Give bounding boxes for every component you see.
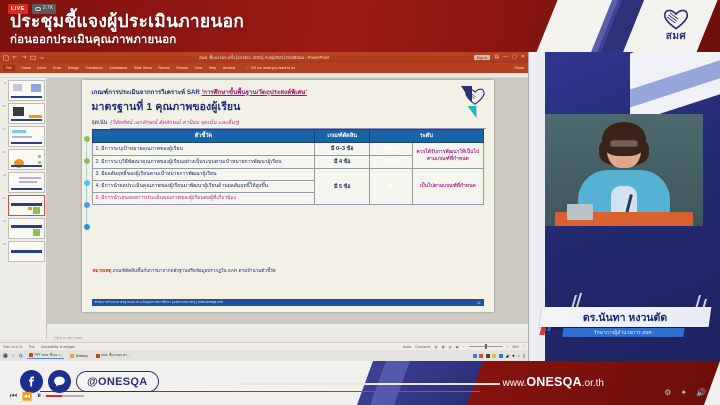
ribbon-tab-design[interactable]: Design bbox=[68, 66, 79, 70]
thumbnail-preview[interactable] bbox=[8, 103, 45, 124]
table-row: 1. มีการระบุเป้าหมายคุณภาพของผู้เรียน มี… bbox=[92, 143, 483, 156]
thumbnail-preview[interactable] bbox=[8, 126, 45, 147]
playback-progress-bar[interactable] bbox=[46, 395, 84, 397]
presenter-title-bar: รักษาการผู้อำนวยการ สมศ. bbox=[562, 328, 684, 337]
volume-icon[interactable]: 🔊 bbox=[696, 388, 706, 397]
broadcast-header: LIVE 2.7K ประชุมชี้แจงผู้ประเมินภายนอก ก… bbox=[0, 0, 720, 52]
quick-access-toolbar[interactable] bbox=[3, 55, 45, 61]
livestream-screen: LIVE 2.7K ประชุมชี้แจงผู้ประเมินภายนอก ก… bbox=[0, 0, 720, 405]
thumbnail-number: 10 bbox=[1, 103, 6, 108]
tray-icon-cloud[interactable] bbox=[499, 354, 503, 358]
ribbon-tab-acrobat[interactable]: Acrobat bbox=[223, 66, 235, 70]
playback-progress-fill bbox=[46, 395, 62, 397]
indicator-bullet-rail bbox=[84, 136, 91, 246]
status-comments-button[interactable]: Comments bbox=[415, 345, 430, 349]
zoom-in-button[interactable]: + bbox=[507, 345, 509, 349]
table-row: 3. มีผลสัมฤทธิ์ของผู้เรียนตามเป้าหมายการ… bbox=[92, 169, 483, 181]
zoom-out-button[interactable]: − bbox=[463, 345, 465, 349]
fit-slide-icon[interactable]: ⛶ bbox=[523, 345, 525, 349]
pause-icon[interactable]: ⏸ bbox=[37, 391, 41, 401]
close-button[interactable]: ✕ bbox=[521, 55, 525, 60]
system-tray: ◢ ◄ ▭ ▯ bbox=[473, 353, 525, 358]
criteria-table: ตัวชี้วัด เกณฑ์ตัดสิน ระดับ 1. มีการระบุ… bbox=[92, 129, 484, 205]
notes-placeholder: Click to add notes bbox=[54, 336, 83, 340]
thumbnail-preview[interactable] bbox=[8, 80, 45, 101]
slide-page-number: 14 bbox=[477, 301, 481, 305]
level-improve: ปรับปรุง bbox=[370, 143, 413, 156]
thumbnail-number: 9 bbox=[1, 80, 6, 85]
tray-volume-icon[interactable]: ◄ bbox=[511, 353, 515, 358]
maximize-button[interactable]: ▢ bbox=[512, 55, 517, 60]
powerpoint-workspace: 9 10 11 bbox=[0, 78, 528, 339]
laptop-icon bbox=[567, 204, 593, 220]
column-header-indicator: ตัวชี้วัด bbox=[92, 130, 315, 143]
rail-dot-3 bbox=[84, 180, 90, 186]
url-suffix: .or.th bbox=[582, 378, 604, 389]
slide-remark-text: เกณฑ์ตัดสินขึ้นกับการมาจากหลักฐานหรือข้อ… bbox=[113, 268, 276, 273]
view-sorter-icon[interactable]: ▦ bbox=[442, 345, 445, 349]
tell-me-placeholder: Tell me what you want to do bbox=[251, 66, 295, 70]
presenter-name: ดร.นันทา หงวนตัด bbox=[583, 309, 667, 326]
present-icon[interactable] bbox=[30, 55, 36, 61]
windows-taskbar: ▦ ○ ◍ PPT สมศ. ชี้แจง ร... Desktop สมศ. … bbox=[0, 350, 528, 361]
note-meets-criteria: เป็นไปตามเกณฑ์ที่กำหนด bbox=[413, 169, 483, 205]
ribbon-tab-animations[interactable]: Animations bbox=[109, 66, 127, 70]
save-icon[interactable] bbox=[3, 55, 9, 61]
table-header-row: ตัวชี้วัด เกณฑ์ตัดสิน ระดับ bbox=[92, 130, 483, 143]
social-handle-pill[interactable]: @ONESQA bbox=[76, 371, 159, 392]
level-fair: พอใช้ bbox=[370, 156, 413, 169]
taskbar-label: PPT สมศ. ชี้แจง ร... bbox=[35, 353, 63, 358]
current-slide: เกณฑ์การประเมินจากการวิเคราะห์ SAR 'การศ… bbox=[82, 80, 494, 312]
presenter-glasses bbox=[610, 140, 638, 147]
criteria-1: มี 0–3 ข้อ bbox=[315, 143, 370, 156]
thumbnail-number: 13 bbox=[1, 172, 6, 177]
thumbnail-item[interactable]: 11 bbox=[1, 126, 45, 147]
thumbnail-preview[interactable] bbox=[8, 241, 45, 262]
show-desktop-icon[interactable]: ▯ bbox=[523, 353, 525, 358]
criteria-2: มี 4 ข้อ bbox=[315, 156, 370, 169]
thumbnail-preview-current[interactable] bbox=[8, 195, 45, 216]
thumbnail-item[interactable]: 9 bbox=[1, 80, 45, 101]
ribbon-tab-view[interactable]: View bbox=[195, 66, 203, 70]
ribbon-tab-slide-show[interactable]: Slide Show bbox=[134, 66, 152, 70]
onesqa-logo-text: สมศ bbox=[666, 29, 687, 44]
heart-icon bbox=[661, 8, 691, 30]
criteria-3: มี 5 ข้อ bbox=[315, 169, 370, 205]
taskbar-item-desktop[interactable]: Desktop bbox=[68, 354, 89, 358]
sign-in-button[interactable]: Sign in bbox=[474, 55, 491, 60]
tray-icon-shield[interactable] bbox=[492, 354, 496, 358]
thumbnail-number: 12 bbox=[1, 149, 6, 154]
indicator-2: 2. มีการระบุวิธีพัฒนาคุณภาพของผู้เรียนอย… bbox=[92, 156, 315, 169]
indicator-5: 5. มีการนำเสนอผลการประเมินคุณภาพของผู้เร… bbox=[92, 193, 315, 205]
ribbon-tab-draw[interactable]: Draw bbox=[53, 66, 61, 70]
presenter-hair bbox=[602, 122, 646, 156]
rail-dot-2 bbox=[84, 158, 90, 164]
minimize-button[interactable]: — bbox=[503, 55, 508, 60]
view-reading-icon[interactable]: ▥ bbox=[449, 345, 452, 349]
broadcast-title-line1: ประชุมชี้แจงผู้ประเมินภายนอก bbox=[10, 12, 244, 30]
view-normal-icon[interactable]: ▤ bbox=[435, 345, 438, 349]
notes-pane[interactable]: Click to add notes bbox=[47, 323, 528, 339]
tell-me-search[interactable]: ◌ Tell me what you want to do bbox=[247, 66, 296, 70]
tray-icon-app[interactable] bbox=[486, 354, 490, 358]
thumbnail-preview[interactable] bbox=[8, 149, 45, 170]
taskbar-label: Desktop bbox=[76, 354, 88, 358]
tray-icon-notepad[interactable] bbox=[473, 354, 477, 358]
slide-kicker: เกณฑ์การประเมินจากการวิเคราะห์ SAR 'การศ… bbox=[92, 87, 486, 97]
settings-gear-icon[interactable]: ⚙ bbox=[664, 388, 671, 397]
status-accessibility[interactable]: Accessibility: investigate bbox=[41, 345, 75, 349]
presenter-subtitle: รักษาการผู้อำนวยการ สมศ. bbox=[594, 329, 653, 337]
ribbon-tab-record[interactable]: Record bbox=[158, 66, 170, 70]
slide-remark-label: หมายเหตุ bbox=[93, 268, 112, 273]
ribbon-tab-file[interactable]: File bbox=[3, 65, 15, 71]
status-right-controls: Notes Comments ▤ ▦ ▥ ▣ − + 58% ⛶ bbox=[403, 345, 525, 349]
customize-qat-chevron-icon[interactable] bbox=[39, 55, 45, 61]
thumbnail-item[interactable]: 10 bbox=[1, 103, 45, 124]
slide-focus-row: จุดเน้น (วิสัยทัศน์ เอกลักษณ์ อัตลักษณ์ … bbox=[92, 119, 486, 129]
thumbnail-number: 16 bbox=[1, 241, 6, 246]
indicator-4: 4. มีการนำผลประเมินคุณภาพของผู้เรียนมาพั… bbox=[92, 181, 315, 193]
player-controls: ⏮ ⏪ ⏸ bbox=[10, 391, 84, 401]
slide-thumbnail-pane[interactable]: 9 10 11 bbox=[0, 78, 47, 339]
broadcast-title-line2: ก่อนออกประเมินคุณภาพภายนอก bbox=[10, 31, 244, 49]
ribbon-display-options-icon[interactable]: ▤ bbox=[494, 55, 499, 60]
social-links: @ONESQA bbox=[20, 370, 159, 393]
thumbnail-item-selected[interactable]: 14 bbox=[1, 195, 45, 216]
thumbnail-preview[interactable] bbox=[8, 172, 45, 193]
url-prefix: www. bbox=[502, 378, 526, 389]
rail-dot-1 bbox=[84, 136, 90, 142]
search-icon[interactable]: ○ bbox=[12, 353, 15, 359]
tray-clock[interactable]: ▭ bbox=[517, 354, 520, 358]
ribbon-tab-transitions[interactable]: Transitions bbox=[85, 66, 102, 70]
status-language[interactable]: Thai bbox=[29, 345, 35, 349]
view-slideshow-icon[interactable]: ▣ bbox=[456, 345, 459, 349]
sparkle-icon[interactable]: ✦ bbox=[680, 388, 687, 397]
slide-remark: หมายเหตุ เกณฑ์ตัดสินขึ้นกับการมาจากหลักฐ… bbox=[93, 268, 276, 275]
browser-icon[interactable]: ◍ bbox=[19, 353, 23, 359]
document-title: สมศ. ชี้แจงรอบ ครั้ง [14 Dec. 2021] Auto… bbox=[0, 54, 528, 61]
slide-kicker-link: 'การศึกษาขั้นพื้นฐาน/วัตถุประสงค์พิเศษ' bbox=[202, 89, 307, 96]
slide-header: เกณฑ์การประเมินจากการวิเคราะห์ SAR 'การศ… bbox=[92, 87, 486, 129]
slide-focus-value: (วิสัยทัศน์ เอกลักษณ์ อัตลักษณ์ ค่านิยม … bbox=[110, 119, 485, 129]
start-button-icon[interactable]: ▦ bbox=[3, 353, 8, 359]
slide-focus-label: จุดเน้น bbox=[92, 119, 108, 127]
thumbnail-number: 15 bbox=[1, 218, 6, 223]
line-icon[interactable] bbox=[48, 370, 71, 393]
thumbnail-item[interactable]: 16 bbox=[1, 241, 45, 262]
onesqa-logo: สมศ bbox=[650, 6, 702, 46]
slide-kicker-prefix: เกณฑ์การประเมินจากการวิเคราะห์ SAR bbox=[92, 89, 202, 96]
indicator-3: 3. มีผลสัมฤทธิ์ของผู้เรียนตามเป้าหมายการ… bbox=[92, 169, 315, 181]
thumbnail-preview[interactable] bbox=[8, 218, 45, 239]
lightbulb-icon: ◌ bbox=[247, 66, 249, 70]
slide-footer: สำนักงานรับรองมาตรฐานและประเมินคุณภาพการ… bbox=[92, 299, 484, 306]
status-slide-indicator[interactable]: Slide 14 of 41 bbox=[3, 345, 23, 349]
url-brand: ONESQA bbox=[526, 375, 581, 389]
tray-network-icon[interactable]: ◢ bbox=[505, 353, 508, 358]
facebook-icon[interactable] bbox=[20, 370, 43, 393]
broadcast-title: ประชุมชี้แจงผู้ประเมินภายนอก ก่อนออกประเ… bbox=[10, 12, 244, 49]
slide-footer-text: สำนักงานรับรองมาตรฐานและประเมินคุณภาพการ… bbox=[95, 300, 224, 305]
ribbon-tab-review[interactable]: Review bbox=[176, 66, 188, 70]
zoom-level-label[interactable]: 58% bbox=[512, 345, 518, 349]
powerpoint-ribbon-tabs: File Home Insert Draw Design Transitions… bbox=[0, 63, 528, 73]
thumbnail-number: 11 bbox=[1, 126, 6, 131]
rail-dot-5 bbox=[84, 224, 90, 230]
brand-footer: @ONESQA www.ONESQA.or.th ⏮ ⏪ ⏸ ⚙ ✦ 🔊 bbox=[0, 361, 720, 405]
social-handle-text: @ONESQA bbox=[87, 376, 148, 388]
taskbar-item-document[interactable]: สมศ. ชี้แจงรอบ คร... bbox=[94, 353, 132, 358]
zoom-slider-handle[interactable] bbox=[485, 344, 487, 349]
presenter-nameplate: ดร.นันทา หงวนตัด bbox=[540, 307, 712, 327]
thumbnail-item[interactable]: 13 bbox=[1, 172, 45, 193]
note-needs-development: ควรได้รับการพัฒนาให้เป็นไปตามเกณฑ์ที่กำห… bbox=[413, 143, 483, 169]
thumbnail-number: 14 bbox=[1, 195, 6, 200]
indicator-1: 1. มีการระบุเป้าหมายคุณภาพของผู้เรียน bbox=[92, 143, 315, 156]
ribbon-tab-insert[interactable]: Insert bbox=[37, 66, 46, 70]
previous-icon[interactable]: ⏮ bbox=[10, 391, 17, 401]
thumbnail-item[interactable]: 12 bbox=[1, 149, 45, 170]
taskbar-item-powerpoint[interactable]: PPT สมศ. ชี้แจง ร... bbox=[27, 353, 64, 359]
zoom-slider[interactable] bbox=[469, 346, 503, 347]
undo-icon[interactable] bbox=[12, 55, 18, 61]
slide-canvas-area: เกณฑ์การประเมินจากการวิเคราะห์ SAR 'การศ… bbox=[47, 78, 528, 339]
column-header-criteria: เกณฑ์ตัดสิน bbox=[315, 130, 370, 143]
presenter-video-feed bbox=[545, 114, 703, 226]
footer-white-line bbox=[240, 383, 500, 385]
rewind-icon[interactable]: ⏪ bbox=[22, 392, 32, 401]
powerpoint-status-bar: Slide 14 of 41 Thai Accessibility: inves… bbox=[0, 342, 528, 350]
shared-screen: สมศ. ชี้แจงรอบ ครั้ง [14 Dec. 2021] Auto… bbox=[0, 52, 529, 361]
player-right-controls: ⚙ ✦ 🔊 bbox=[664, 388, 706, 397]
folder-icon bbox=[70, 354, 74, 358]
status-notes-button[interactable]: Notes bbox=[403, 345, 411, 349]
level-good: ดี bbox=[370, 169, 413, 205]
redo-icon[interactable] bbox=[21, 55, 27, 61]
presenter-panel: ดร.นันทา หงวนตัด รักษาการผู้อำนวยการ สมศ… bbox=[529, 52, 720, 361]
website-url: www.ONESQA.or.th bbox=[502, 375, 604, 389]
document-icon bbox=[96, 354, 100, 358]
share-button[interactable]: Share bbox=[514, 66, 524, 70]
taskbar-label: สมศ. ชี้แจงรอบ คร... bbox=[101, 353, 130, 358]
ribbon-tab-home[interactable]: Home bbox=[21, 66, 31, 70]
thumbnail-item[interactable]: 15 bbox=[1, 218, 45, 239]
powerpoint-icon bbox=[29, 353, 33, 357]
slide-title: มาตรฐานที่ 1 คุณภาพของผู้เรียน bbox=[92, 98, 486, 115]
ribbon-tab-help[interactable]: Help bbox=[209, 66, 216, 70]
tray-icon-alert[interactable] bbox=[479, 354, 483, 358]
column-header-level: ระดับ bbox=[370, 130, 483, 143]
powerpoint-titlebar: สมศ. ชี้แจงรอบ ครั้ง [14 Dec. 2021] Auto… bbox=[0, 52, 528, 63]
titlebar-right-controls: Sign in ▤ — ▢ ✕ bbox=[474, 55, 525, 60]
rail-dot-4 bbox=[84, 202, 90, 208]
